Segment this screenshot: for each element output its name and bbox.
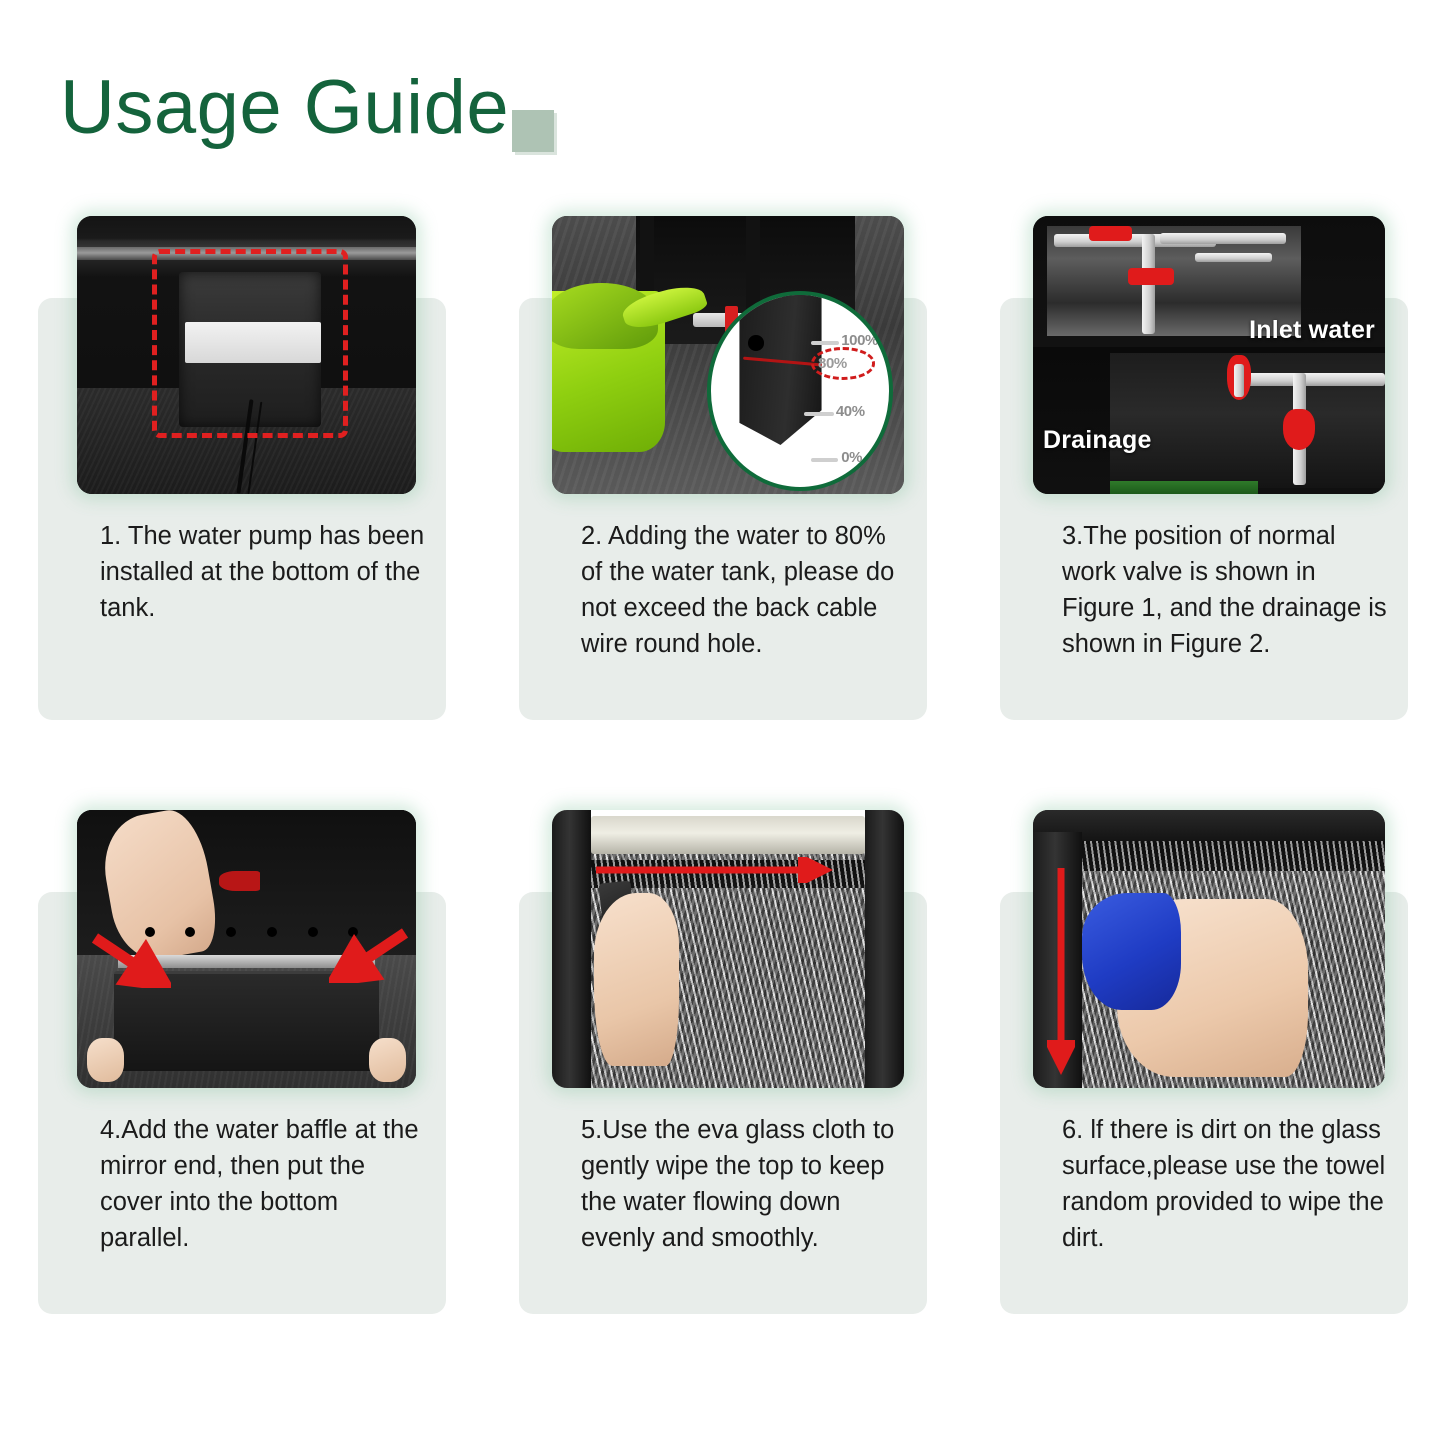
red-arrow-right-icon (329, 927, 409, 983)
red-dashed-highlight-icon (152, 249, 349, 438)
steps-row-1: 1. The water pump has been installed at … (0, 196, 1445, 790)
level-label-40: 40% (836, 403, 865, 420)
page-title: Usage Guide (60, 58, 509, 158)
step-caption: 2. Adding the water to 80% of the water … (581, 518, 911, 662)
filling-water-with-watering-can-photo: 100% 80% 40% 0% (552, 216, 904, 494)
level-label-100: 100% (841, 332, 878, 349)
inlet-and-drainage-valves-photo: Inlet water Drainage (1033, 216, 1385, 494)
label-drainage: Drainage (1043, 426, 1152, 455)
red-arrow-down-icon (1047, 866, 1075, 1076)
red-arrow-right-icon (594, 857, 834, 883)
step-caption: 6. lf there is dirt on the glass surface… (1062, 1112, 1392, 1256)
step-caption: 3.The position of normal work valve is s… (1062, 518, 1392, 662)
step-card-2: 100% 80% 40% 0% 2. Adding the water to 8… (481, 196, 962, 790)
steps-row-2: 4.Add the water baffle at the mirror end… (0, 790, 1445, 1384)
level-label-80: 80% (818, 355, 847, 372)
red-arrow-left-icon (91, 932, 171, 988)
magnifier-callout-icon: 100% 80% 40% 0% (707, 291, 894, 491)
step-caption: 4.Add the water baffle at the mirror end… (100, 1112, 430, 1256)
usage-guide-page: Usage Guide 1. T (0, 0, 1445, 1445)
step-card-4: 4.Add the water baffle at the mirror end… (0, 790, 481, 1384)
label-inlet-water: Inlet water (1249, 316, 1375, 345)
title-accent-square (512, 110, 554, 152)
step-card-3: Inlet water Drainage 3.The position of n… (962, 196, 1443, 790)
step-card-6: 6. lf there is dirt on the glass surface… (962, 790, 1443, 1384)
installing-water-baffle-photo (77, 810, 416, 1088)
step-caption: 5.Use the eva glass cloth to gently wipe… (581, 1112, 911, 1256)
step-card-5: 5.Use the eva glass cloth to gently wipe… (481, 790, 962, 1384)
step-card-1: 1. The water pump has been installed at … (0, 196, 481, 790)
level-label-0: 0% (841, 449, 862, 466)
page-header: Usage Guide (60, 58, 509, 158)
step-caption: 1. The water pump has been installed at … (100, 518, 430, 626)
steps-grid: 1. The water pump has been installed at … (0, 196, 1445, 1384)
wiping-top-with-eva-glass-cloth-photo (552, 810, 904, 1088)
water-pump-in-tank-photo (77, 216, 416, 494)
wiping-glass-with-blue-towel-photo (1033, 810, 1385, 1088)
